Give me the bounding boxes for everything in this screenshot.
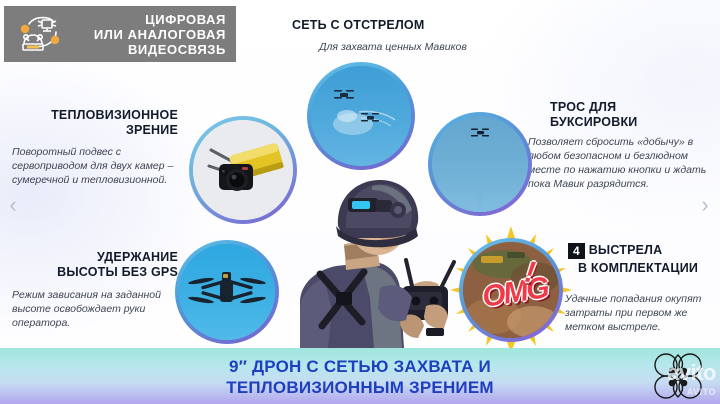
footer-headline-line-1: 9″ ДРОН С СЕТЬЮ ЗАХВАТА И [229,357,491,376]
feature-title-tow-line-2: БУКСИРОВКИ [550,115,710,130]
feature-body-altitude: Режим зависания на заданной высоте освоб… [12,288,182,330]
header-badge-line-1: ЦИФРОВАЯ [76,12,226,27]
footer-headline: 9″ ДРОН С СЕТЬЮ ЗАХВАТА И ТЕПЛОВИЗИОННЫМ… [0,356,720,398]
net-capture-photo-inner [311,66,411,166]
feature-title-thermal: ТЕПЛОВИЗИОННОЕ ЗРЕНИЕ [18,108,178,138]
omg-burst-photo: OMG ! [459,238,563,342]
header-badge-line-3: ВИДЕОСВЯЗЬ [76,42,226,57]
hovering-drone-photo-inner [179,244,275,340]
feature-title-tow: ТРОС ДЛЯ БУКСИРОВКИ [550,100,710,130]
hovering-drone-photo [175,240,279,344]
chevron-right-icon[interactable]: › [694,192,716,218]
feature-title-shots-line-2: В КОМПЛЕКТАЦИИ [578,261,718,276]
feature-title-net: СЕТЬ С ОТСТРЕЛОМ [292,18,492,33]
header-badge-line-2: ИЛИ АНАЛОГОВАЯ [76,27,226,42]
operator-with-controller-illustration [276,170,466,348]
header-badge: ЦИФРОВАЯ ИЛИ АНАЛОГОВАЯ ВИДЕОСВЯЗЬ [4,6,236,62]
feature-title-thermal-line-1: ТЕПЛОВИЗИОННОЕ [18,108,178,123]
feature-subtitle-net: Для захвата ценных Мавиков [278,40,508,54]
feature-title-tow-line-1: ТРОС ДЛЯ [550,100,710,115]
feature-title-altitude-line-2: ВЫСОТЫ БЕЗ GPS [30,265,178,280]
omg-burst-photo-inner: OMG ! [463,242,559,338]
feature-body-thermal: Поворотный подвес с сервоприводом для дв… [12,145,182,187]
feature-body-tow: Позволяет сбросить «добычу» в любом безо… [528,135,713,191]
feature-title-altitude: УДЕРЖАНИЕ ВЫСОТЫ БЕЗ GPS [30,250,178,280]
quadcopter-outline-logo [652,351,704,401]
footer-headline-line-2: ТЕПЛОВИЗИОННЫМ ЗРЕНИЕМ [0,377,720,398]
promo-image-root: ЦИФРОВАЯ ИЛИ АНАЛОГОВАЯ ВИДЕОСВЯЗЬ СЕТЬ … [0,0,720,404]
chevron-left-icon[interactable]: ‹ [2,192,24,218]
shots-count-badge: 4 [568,243,585,259]
net-capture-photo [307,62,415,170]
drone-network-icon [10,10,76,58]
feature-title-shots: 4ВЫСТРЕЛА В КОМПЛЕКТАЦИИ [568,243,718,276]
footer-banner: 9″ ДРОН С СЕТЬЮ ЗАХВАТА И ТЕПЛОВИЗИОННЫМ… [0,348,720,404]
feature-body-shots: Удачные попадания окупят затраты при пер… [565,292,715,334]
feature-title-thermal-line-2: ЗРЕНИЕ [18,123,178,138]
feature-title-shots-line-1: ВЫСТРЕЛА [589,243,663,258]
feature-title-altitude-line-1: УДЕРЖАНИЕ [30,250,178,265]
header-badge-text: ЦИФРОВАЯ ИЛИ АНАЛОГОВАЯ ВИДЕОСВЯЗЬ [76,12,228,57]
